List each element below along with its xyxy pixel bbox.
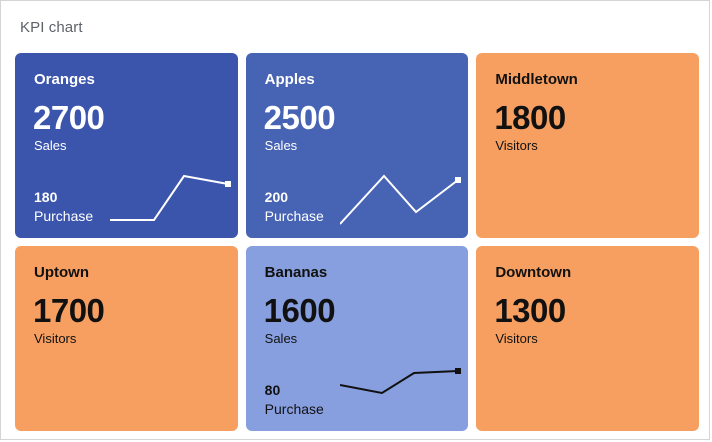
tile-value: 1800 xyxy=(494,101,565,134)
tile-title: Uptown xyxy=(34,265,89,280)
kpi-tile-uptown[interactable]: Uptown1700Visitors xyxy=(15,246,238,431)
tile-unit-label: Visitors xyxy=(34,332,76,345)
kpi-tile-bananas[interactable]: Bananas1600Sales80Purchase xyxy=(246,246,469,431)
kpi-tile-middletown[interactable]: Middletown1800Visitors xyxy=(476,53,699,238)
sparkline-endpoint-marker xyxy=(455,368,461,374)
tile-value: 1600 xyxy=(264,294,335,327)
kpi-tile-downtown[interactable]: Downtown1300Visitors xyxy=(476,246,699,431)
tile-title: Oranges xyxy=(34,72,95,87)
tile-unit-label: Sales xyxy=(34,139,67,152)
tile-value: 2700 xyxy=(33,101,104,134)
tile-title: Middletown xyxy=(495,72,578,87)
tile-unit-label: Visitors xyxy=(495,139,537,152)
sparkline-endpoint-marker xyxy=(225,181,231,187)
tile-title: Downtown xyxy=(495,265,571,280)
tile-secondary-value: 80 xyxy=(265,383,281,397)
tile-title: Apples xyxy=(265,72,315,87)
tile-secondary-label: Purchase xyxy=(34,209,93,223)
tile-secondary-label: Purchase xyxy=(265,402,324,416)
kpi-tile-grid: Oranges2700Sales180PurchaseApples2500Sal… xyxy=(15,53,699,431)
tile-secondary-label: Purchase xyxy=(265,209,324,223)
tile-value: 2500 xyxy=(264,101,335,134)
tile-sparkline xyxy=(110,168,238,238)
kpi-tile-oranges[interactable]: Oranges2700Sales180Purchase xyxy=(15,53,238,238)
tile-value: 1300 xyxy=(494,294,565,327)
sparkline-path xyxy=(340,176,458,224)
page-title: KPI chart xyxy=(20,19,83,36)
sparkline-path xyxy=(110,176,228,220)
tile-unit-label: Sales xyxy=(265,139,298,152)
tile-unit-label: Sales xyxy=(265,332,298,345)
sparkline-endpoint-marker xyxy=(455,177,461,183)
kpi-chart-card: KPI chart Oranges2700Sales180PurchaseApp… xyxy=(0,0,710,440)
sparkline-path xyxy=(340,371,458,393)
tile-value: 1700 xyxy=(33,294,104,327)
tile-sparkline xyxy=(340,361,468,431)
tile-secondary-value: 200 xyxy=(265,190,288,204)
kpi-tile-apples[interactable]: Apples2500Sales200Purchase xyxy=(246,53,469,238)
tile-secondary-value: 180 xyxy=(34,190,57,204)
tile-sparkline xyxy=(340,168,468,238)
tile-title: Bananas xyxy=(265,265,328,280)
tile-unit-label: Visitors xyxy=(495,332,537,345)
